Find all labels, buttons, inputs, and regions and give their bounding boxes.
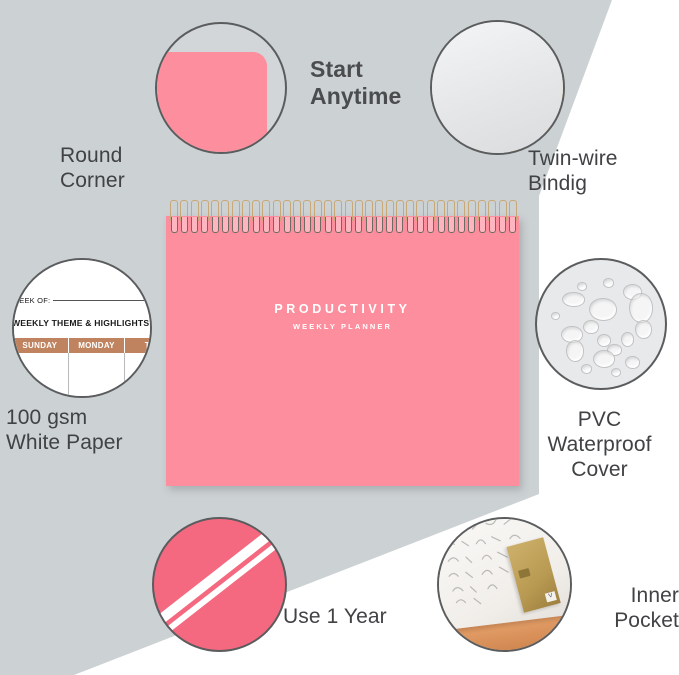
- spiral-loop: [211, 200, 217, 234]
- planner-brand-subtitle: WEEKLY PLANNER: [166, 322, 519, 331]
- open-planner-page: V: [437, 517, 572, 632]
- water-droplet: [603, 278, 614, 288]
- water-droplet: [635, 320, 652, 339]
- infographic-canvas: Round Corner Start Anytime: [0, 0, 679, 675]
- spiral-loop: [191, 200, 197, 234]
- water-droplet: [589, 298, 617, 321]
- planner-spiral-binding: [170, 200, 515, 234]
- planner-page-sample: WEEK OF: WEEKLY THEME & HIGHLIGHTS SUNDA…: [12, 260, 152, 398]
- spiral-loop: [375, 200, 381, 234]
- feature-circle-twin-wire-binding: [430, 20, 565, 155]
- spiral-loop: [303, 200, 309, 234]
- water-droplet: [629, 293, 653, 323]
- planner-branding: PRODUCTIVITY WEEKLY PLANNER: [166, 302, 519, 331]
- page-day-cell: TUE: [125, 338, 152, 353]
- round-corner-swatch: [155, 52, 267, 154]
- spiral-loop: [396, 200, 402, 234]
- diagonal-stripe: [152, 524, 287, 652]
- spiral-loop: [232, 200, 238, 234]
- feature-label-pvc-waterproof-cover: PVC Waterproof Cover: [520, 407, 679, 482]
- feature-label-round-corner: Round Corner: [60, 143, 190, 193]
- planner-product: PRODUCTIVITY WEEKLY PLANNER: [166, 216, 519, 486]
- spiral-loop: [437, 200, 443, 234]
- water-droplet: [566, 340, 584, 362]
- feature-label-start-anytime: Start Anytime: [310, 56, 440, 110]
- feature-circle-pvc-waterproof-cover: [535, 258, 667, 390]
- feature-label-inner-pocket: Inner Pocket: [577, 583, 679, 633]
- spiral-loop: [365, 200, 371, 234]
- feature-label-use-1-year: Use 1 Year: [283, 604, 443, 629]
- spiral-loop: [406, 200, 412, 234]
- spiral-loop: [221, 200, 227, 234]
- feature-label-twin-wire-binding: Twin-wire Bindig: [528, 146, 678, 196]
- page-grid-column: [69, 353, 126, 398]
- spiral-loop: [386, 200, 392, 234]
- spiral-loop: [478, 200, 484, 234]
- page-week-of-label: WEEK OF:: [12, 296, 50, 305]
- feature-circle-inner-pocket: V: [437, 517, 572, 652]
- spiral-loop: [293, 200, 299, 234]
- spiral-loop: [416, 200, 422, 234]
- wire-photo-background: [432, 22, 563, 153]
- spiral-loop: [283, 200, 289, 234]
- page-grid-column: [125, 353, 152, 398]
- feature-label-white-paper: 100 gsm White Paper: [6, 405, 174, 455]
- spiral-loop: [457, 200, 463, 234]
- card-chip: [518, 568, 531, 579]
- card-logo: V: [545, 591, 557, 602]
- water-droplet: [562, 292, 585, 307]
- spiral-loop: [345, 200, 351, 234]
- page-theme-label: WEEKLY THEME & HIGHLIGHTS: [12, 318, 149, 328]
- spiral-loop: [427, 200, 433, 234]
- page-day-cell: MONDAY: [69, 338, 126, 353]
- spiral-loop: [262, 200, 268, 234]
- water-droplet: [577, 282, 587, 291]
- page-week-of-row: WEEK OF:: [12, 296, 152, 305]
- feature-circle-white-paper: WEEK OF: WEEKLY THEME & HIGHLIGHTS SUNDA…: [12, 258, 152, 398]
- feature-circle-round-corner: [155, 22, 287, 154]
- feature-circle-use-1-year: [152, 517, 287, 652]
- water-droplet: [593, 350, 615, 368]
- page-day-cell: SUNDAY: [12, 338, 69, 353]
- planner-brand-title: PRODUCTIVITY: [166, 302, 519, 316]
- spiral-loop: [447, 200, 453, 234]
- spiral-loop: [488, 200, 494, 234]
- water-droplet: [625, 356, 640, 369]
- water-droplet: [581, 364, 592, 374]
- spiral-loop: [509, 200, 515, 234]
- spiral-loop: [252, 200, 258, 234]
- water-droplet: [611, 368, 621, 377]
- spiral-loop: [355, 200, 361, 234]
- spiral-loop: [499, 200, 505, 234]
- spiral-loop: [242, 200, 248, 234]
- spiral-loop: [201, 200, 207, 234]
- spiral-loop: [324, 200, 330, 234]
- spiral-loop: [334, 200, 340, 234]
- page-grid-column: [12, 353, 69, 398]
- spiral-loop: [273, 200, 279, 234]
- spiral-loop: [180, 200, 186, 234]
- spiral-loop: [170, 200, 176, 234]
- spiral-loop: [314, 200, 320, 234]
- page-day-header-row: SUNDAY MONDAY TUE: [12, 338, 152, 353]
- planner-cover: PRODUCTIVITY WEEKLY PLANNER: [166, 216, 519, 486]
- water-droplet: [583, 320, 599, 334]
- page-week-of-rule: [53, 300, 152, 301]
- water-droplet: [551, 312, 560, 320]
- use-1-year-stripes: [154, 519, 285, 650]
- water-droplet: [621, 332, 634, 347]
- spiral-loop: [468, 200, 474, 234]
- page-column-grid: [12, 353, 152, 398]
